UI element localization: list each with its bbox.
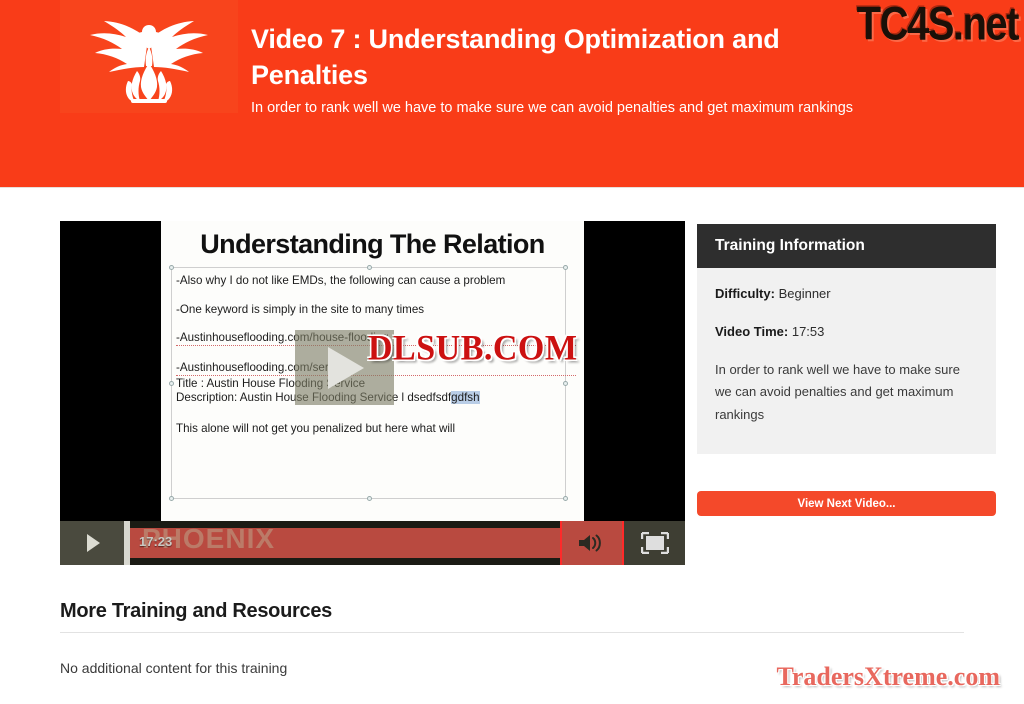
panel-body: Difficulty: Beginner Video Time: 17:53 I… (697, 268, 996, 454)
highlighted-text: gdfsh (451, 391, 479, 404)
more-training-heading: More Training and Resources (60, 600, 332, 623)
watermark-dlsub: DLSUB.COM (368, 329, 577, 369)
slide-line: This alone will not get you penalized bu… (176, 422, 576, 436)
panel-heading: Training Information (697, 224, 996, 268)
video-player[interactable]: Understanding The Relation -Also why I d… (60, 221, 685, 565)
difficulty-row: Difficulty: Beginner (715, 284, 978, 304)
video-time-row: Video Time: 17:53 (715, 322, 978, 342)
phoenix-logo-icon (60, 0, 238, 113)
page-header: Video 7 : Understanding Optimization and… (0, 0, 1024, 188)
watermark-tradersxtreme: TradersXtreme.com (776, 662, 1000, 692)
view-next-video-button[interactable]: View Next Video... (697, 491, 996, 516)
video-time-label: Video Time: (715, 324, 788, 339)
page-title: Video 7 : Understanding Optimization and… (251, 22, 851, 93)
resize-handle[interactable] (169, 265, 174, 270)
training-video-page: Video 7 : Understanding Optimization and… (0, 0, 1024, 704)
watermark-tc4s: TC4S.net (857, 0, 1018, 51)
resize-handle[interactable] (367, 496, 372, 501)
progress-track[interactable]: PHOENIX 17:23 (124, 521, 560, 565)
difficulty-label: Difficulty: (715, 286, 775, 301)
more-training-empty-text: No additional content for this training (60, 660, 287, 676)
play-button[interactable] (60, 521, 124, 565)
page-subtitle: In order to rank well we have to make su… (251, 97, 951, 120)
player-controls: PHOENIX 17:23 (60, 521, 685, 565)
volume-icon[interactable] (560, 521, 624, 565)
resize-handle[interactable] (563, 265, 568, 270)
video-time-value: 17:53 (792, 324, 825, 339)
current-time-label: 17:23 (139, 534, 172, 549)
resize-handle[interactable] (563, 496, 568, 501)
section-divider (60, 632, 964, 633)
training-information-panel: Training Information Difficulty: Beginne… (697, 224, 996, 454)
resize-handle[interactable] (169, 496, 174, 501)
fullscreen-icon[interactable] (624, 521, 685, 565)
panel-description: In order to rank well we have to make su… (715, 359, 978, 426)
difficulty-value: Beginner (779, 286, 831, 301)
slide-line: -One keyword is simply in the site to ma… (176, 303, 576, 317)
resize-handle[interactable] (367, 265, 372, 270)
slide-title: Understanding The Relation (161, 229, 584, 260)
slide-line: -Also why I do not like EMDs, the follow… (176, 274, 576, 288)
resize-handle[interactable] (169, 381, 174, 386)
